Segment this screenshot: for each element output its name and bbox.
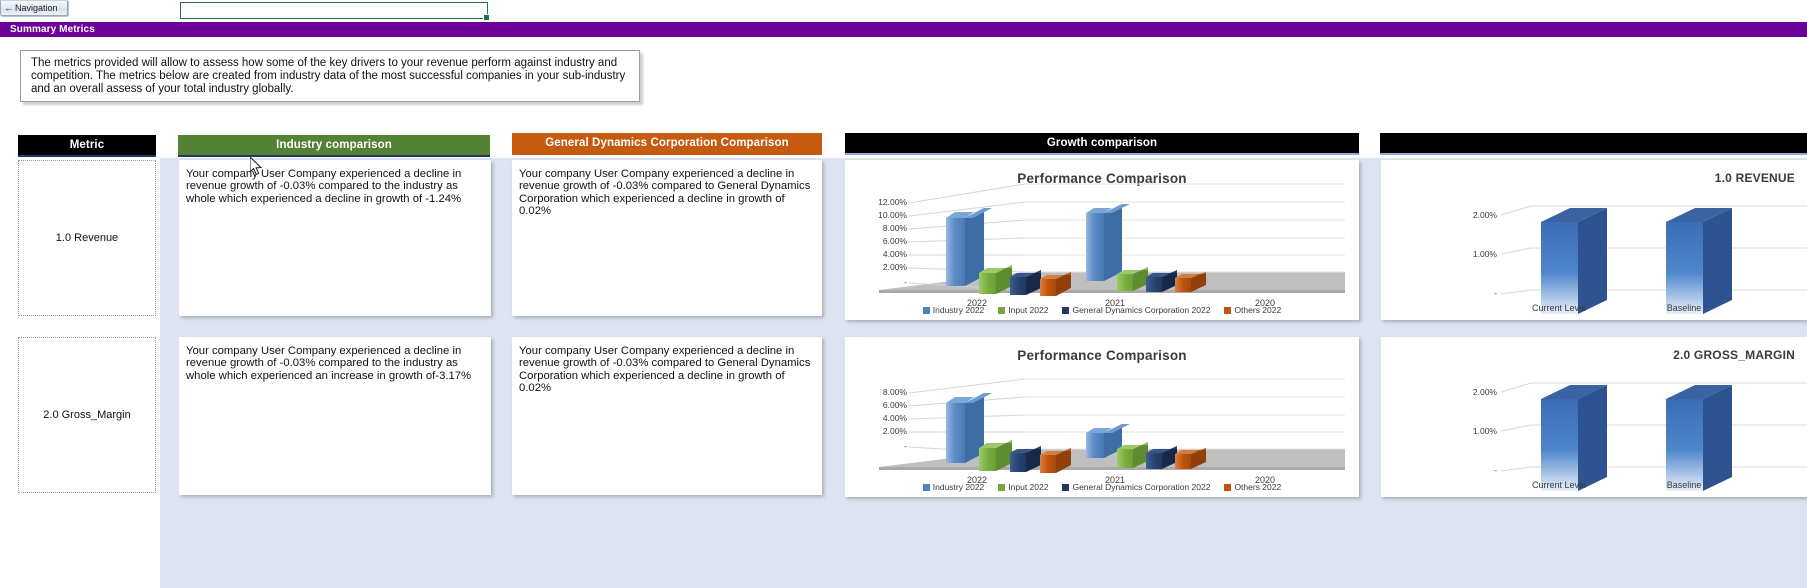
left-arrow-icon: ← (4, 4, 13, 13)
metric-label: 1.0 Revenue (56, 232, 118, 244)
y-tick-label: 2.00% (1439, 387, 1497, 397)
legend-item[interactable]: Industry 2022 (923, 482, 985, 492)
level-chart-cell-2: 2.0 GROSS_MARGIN 2.00% (1381, 337, 1807, 497)
industry-comparison-text: Your company User Company experienced a … (186, 345, 471, 382)
column-header-level (1380, 133, 1807, 155)
column-header-gd-label: General Dynamics Corporation Comparison (545, 137, 789, 149)
y-tick-label: - (1439, 465, 1497, 475)
industry-comparison-cell-2: Your company User Company experienced a … (179, 337, 491, 495)
intro-note: The metrics provided will allow to asses… (20, 50, 640, 102)
y-tick-label: 10.00% (851, 210, 907, 220)
selected-cell[interactable] (180, 2, 488, 19)
y-tick-label: - (851, 277, 907, 287)
legend-label: General Dynamics Corporation 2022 (1072, 305, 1210, 315)
legend-swatch-icon (923, 484, 930, 491)
page-title: Summary Metrics (0, 22, 1807, 37)
column-header-metric: Metric (18, 135, 156, 157)
x-tick-label: Baseline (1634, 303, 1734, 313)
column-header-industry: Industry comparison (178, 135, 490, 157)
legend-swatch-icon (1062, 307, 1069, 314)
table-row-metric-1: 1.0 Revenue (18, 160, 156, 316)
column-header-metric-label: Metric (70, 139, 104, 151)
column-header-gd: General Dynamics Corporation Comparison (512, 133, 822, 155)
growth-chart-2: Performance Comparison (845, 337, 1359, 497)
level-chart-1: 1.0 REVENUE (1381, 160, 1807, 320)
legend-label: Others 2022 (1234, 482, 1281, 492)
legend-item[interactable]: Others 2022 (1224, 482, 1281, 492)
gd-comparison-text: Your company User Company experienced a … (519, 345, 810, 394)
y-tick-label: 6.00% (851, 400, 907, 410)
x-tick-label: Current Level (1509, 303, 1609, 313)
legend-label: Others 2022 (1234, 305, 1281, 315)
chart-canvas-2 (845, 337, 1359, 497)
y-tick-label: - (1439, 288, 1497, 298)
legend-item[interactable]: Input 2022 (998, 482, 1048, 492)
legend-swatch-icon (923, 307, 930, 314)
legend-swatch-icon (998, 484, 1005, 491)
chart-legend-1: Industry 2022 Input 2022 General Dynamic… (845, 305, 1359, 315)
y-tick-label: 4.00% (851, 249, 907, 259)
legend-swatch-icon (1224, 484, 1231, 491)
metric-label: 2.0 Gross_Margin (43, 409, 130, 421)
industry-comparison-text: Your company User Company experienced a … (186, 168, 461, 205)
level-chart-cell-1: 1.0 REVENUE (1381, 160, 1807, 320)
x-tick-label: Current Level (1509, 480, 1609, 490)
legend-item[interactable]: General Dynamics Corporation 2022 (1062, 305, 1210, 315)
legend-swatch-icon (1224, 307, 1231, 314)
y-tick-label: 2.00% (851, 262, 907, 272)
legend-item[interactable]: General Dynamics Corporation 2022 (1062, 482, 1210, 492)
column-header-growth-label: Growth comparison (1047, 137, 1157, 149)
column-header-growth: Growth comparison (845, 133, 1359, 155)
navigation-button-label: Navigation (15, 3, 58, 13)
legend-item[interactable]: Industry 2022 (923, 305, 985, 315)
gd-comparison-text: Your company User Company experienced a … (519, 168, 810, 217)
legend-item[interactable]: Others 2022 (1224, 305, 1281, 315)
legend-label: Input 2022 (1008, 482, 1048, 492)
y-tick-label: 6.00% (851, 236, 907, 246)
y-tick-label: 2.00% (851, 426, 907, 436)
fill-handle[interactable] (483, 14, 490, 21)
legend-swatch-icon (1062, 484, 1069, 491)
y-tick-label: 1.00% (1439, 426, 1497, 436)
chart-canvas-1 (845, 160, 1359, 320)
x-tick-label: Baseline (1634, 480, 1734, 490)
growth-chart-1: Performance Comparison (845, 160, 1359, 320)
industry-comparison-cell-1: Your company User Company experienced a … (179, 160, 491, 316)
page-title-label: Summary Metrics (10, 24, 95, 35)
legend-label: Industry 2022 (933, 482, 985, 492)
legend-item[interactable]: Input 2022 (998, 305, 1048, 315)
y-tick-label: 12.00% (851, 197, 907, 207)
navigation-button[interactable]: ← Navigation (0, 0, 68, 16)
y-tick-label: 8.00% (851, 387, 907, 397)
legend-label: Input 2022 (1008, 305, 1048, 315)
growth-chart-cell-1: Performance Comparison (845, 160, 1359, 320)
chart-legend-2: Industry 2022 Input 2022 General Dynamic… (845, 482, 1359, 492)
table-row-metric-2: 2.0 Gross_Margin (18, 337, 156, 493)
gd-comparison-cell-2: Your company User Company experienced a … (512, 337, 822, 495)
legend-label: Industry 2022 (933, 305, 985, 315)
y-tick-label: 4.00% (851, 413, 907, 423)
level-chart-2: 2.0 GROSS_MARGIN 2.00% (1381, 337, 1807, 497)
legend-swatch-icon (998, 307, 1005, 314)
intro-note-text: The metrics provided will allow to asses… (31, 57, 625, 95)
growth-chart-cell-2: Performance Comparison (845, 337, 1359, 497)
legend-label: General Dynamics Corporation 2022 (1072, 482, 1210, 492)
y-tick-label: 2.00% (1439, 210, 1497, 220)
gd-comparison-cell-1: Your company User Company experienced a … (512, 160, 822, 316)
y-tick-label: - (851, 441, 907, 451)
y-tick-label: 8.00% (851, 223, 907, 233)
column-header-industry-label: Industry comparison (276, 139, 392, 151)
spreadsheet-dashboard: ← Navigation Summary Metrics The metrics… (0, 0, 1807, 580)
y-tick-label: 1.00% (1439, 249, 1497, 259)
